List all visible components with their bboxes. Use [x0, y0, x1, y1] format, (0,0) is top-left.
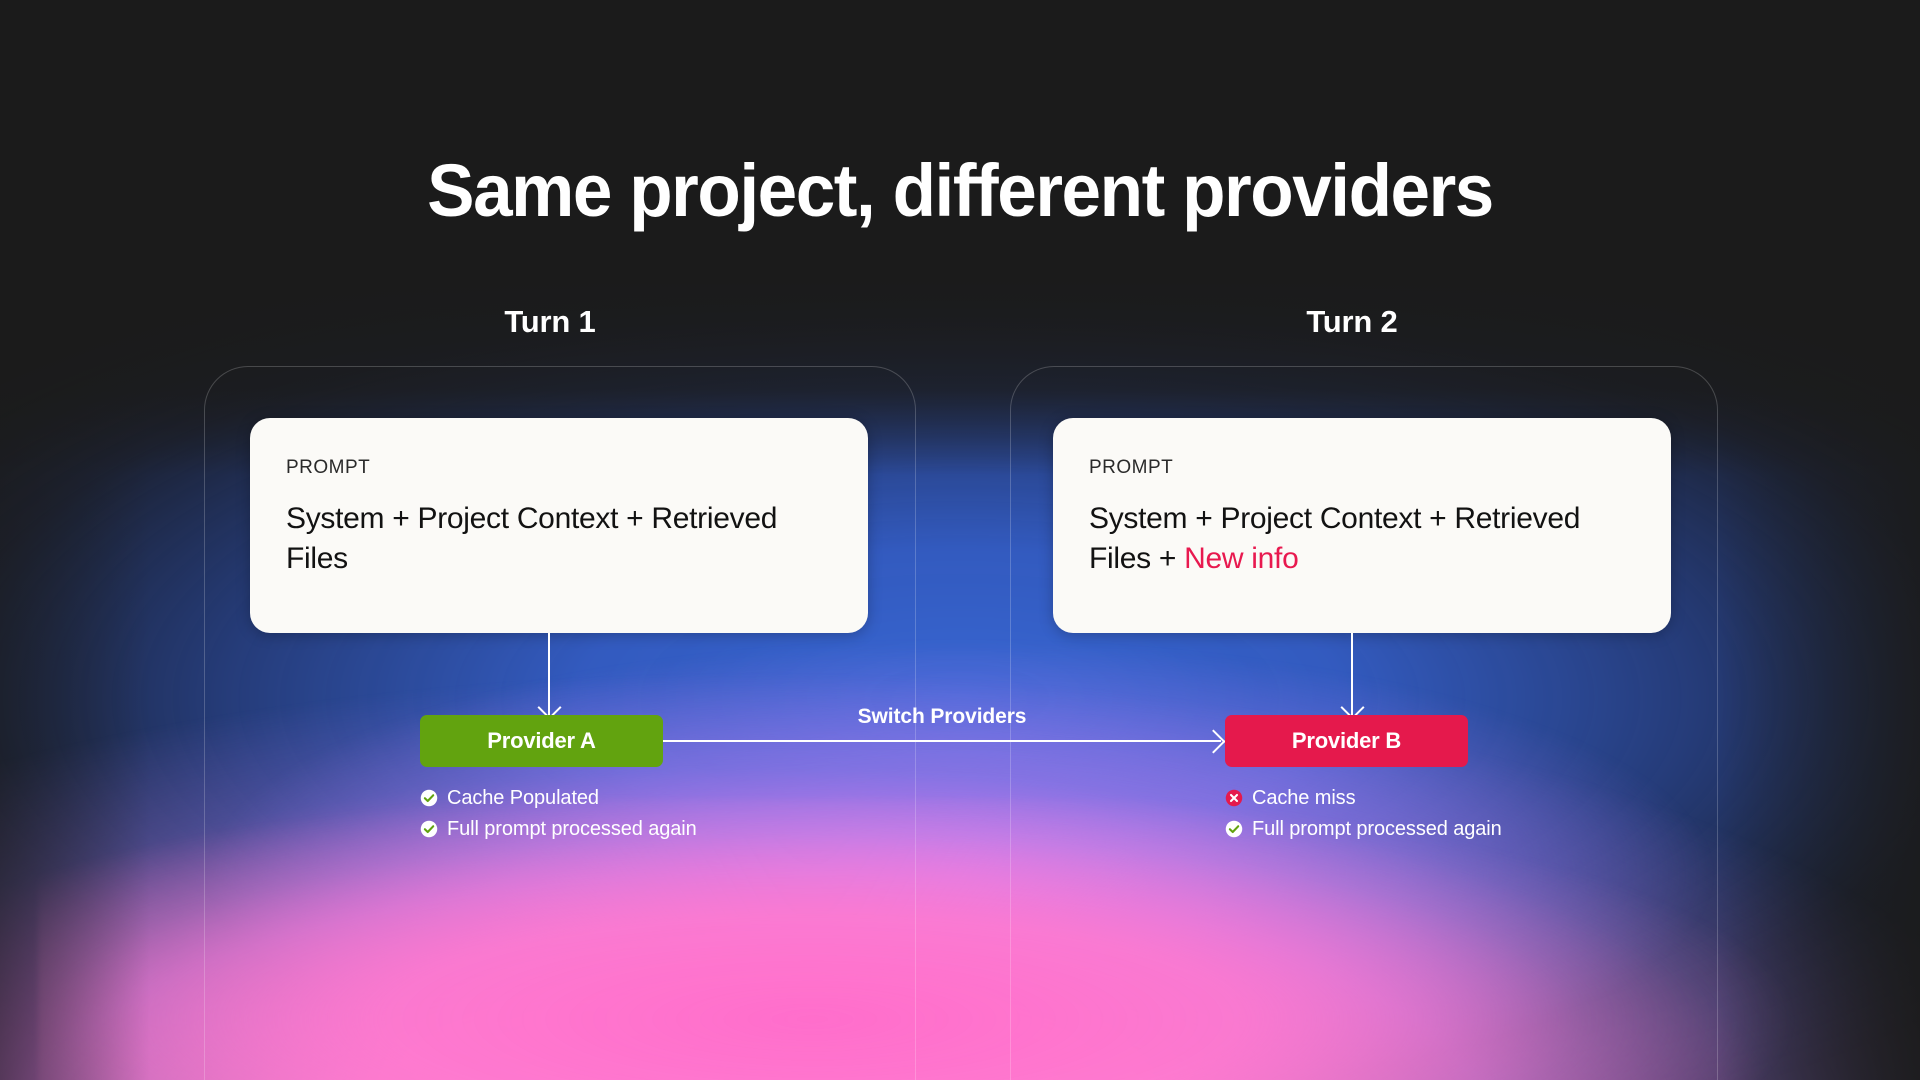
- turn-2-prompt-card: PROMPT System + Project Context + Retrie…: [1053, 418, 1671, 633]
- status-item: Full prompt processed again: [420, 816, 697, 842]
- provider-a-label: Provider A: [487, 728, 595, 754]
- status-label: Full prompt processed again: [447, 816, 697, 842]
- x-circle-icon: [1225, 789, 1243, 807]
- provider-a-pill[interactable]: Provider A: [420, 715, 663, 767]
- check-circle-icon: [1225, 820, 1243, 838]
- turn-2-prompt-body: System + Project Context + Retrieved Fil…: [1089, 499, 1635, 578]
- turn-2-down-arrow-icon: [1351, 633, 1353, 715]
- slide-canvas: Same project, different providers Turn 1…: [0, 0, 1920, 1080]
- status-item: Cache miss: [1225, 785, 1502, 811]
- turn-1-label: Turn 1: [400, 306, 700, 337]
- turn-1-status-list: Cache Populated Full prompt processed ag…: [420, 785, 697, 847]
- turn-1-down-arrow-icon: [548, 633, 550, 715]
- turn-1-prompt-body: System + Project Context + Retrieved Fil…: [286, 499, 832, 578]
- turn-2-prompt-accent: New info: [1184, 542, 1298, 575]
- turn-1-prompt-card: PROMPT System + Project Context + Retrie…: [250, 418, 868, 633]
- provider-b-label: Provider B: [1292, 728, 1401, 754]
- check-circle-icon: [420, 820, 438, 838]
- status-label: Full prompt processed again: [1252, 816, 1502, 842]
- turn-2-status-list: Cache miss Full prompt processed again: [1225, 785, 1502, 847]
- status-label: Cache Populated: [447, 785, 599, 811]
- turn-2-label: Turn 2: [1202, 306, 1502, 337]
- provider-b-pill[interactable]: Provider B: [1225, 715, 1468, 767]
- slide-title: Same project, different providers: [38, 154, 1881, 228]
- turn-2-prompt-kicker: PROMPT: [1089, 458, 1635, 477]
- status-item: Cache Populated: [420, 785, 697, 811]
- turn-2-prompt-text: System + Project Context + Retrieved Fil…: [1089, 502, 1580, 575]
- check-circle-icon: [420, 789, 438, 807]
- status-label: Cache miss: [1252, 785, 1355, 811]
- turn-1-prompt-text: System + Project Context + Retrieved Fil…: [286, 502, 777, 575]
- turn-1-prompt-kicker: PROMPT: [286, 458, 832, 477]
- status-item: Full prompt processed again: [1225, 816, 1502, 842]
